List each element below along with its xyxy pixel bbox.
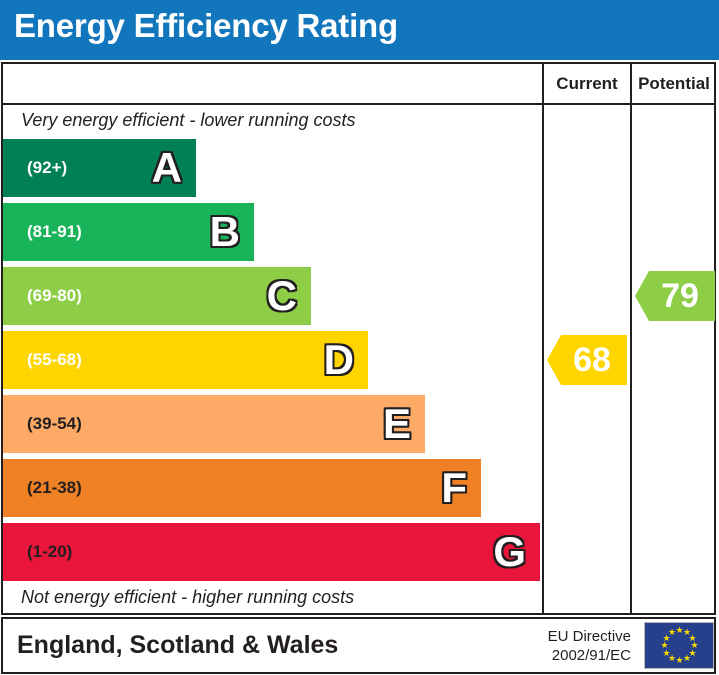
page-title: Energy Efficiency Rating	[14, 7, 398, 45]
eu-flag-star-icon: ★	[676, 657, 683, 664]
band-letter-e: E	[383, 403, 411, 445]
band-bar-d: (55-68)D	[3, 331, 368, 389]
potential-rating-arrow: 79	[635, 271, 715, 321]
band-letter-f: F	[441, 467, 467, 509]
directive-line-2: 2002/91/EC	[521, 646, 631, 665]
column-divider-potential	[630, 64, 632, 613]
band-letter-g: G	[493, 531, 526, 573]
eu-flag-star-icon: ★	[668, 629, 675, 636]
caption-not-efficient: Not energy efficient - higher running co…	[21, 587, 354, 608]
band-bar-c: (69-80)C	[3, 267, 311, 325]
column-divider-current	[542, 64, 544, 613]
band-range-g: (1-20)	[27, 542, 72, 562]
band-letter-a: A	[152, 147, 182, 189]
band-range-a: (92+)	[27, 158, 67, 178]
band-letter-d: D	[324, 339, 354, 381]
band-bar-b: (81-91)B	[3, 203, 254, 261]
band-letter-c: C	[267, 275, 297, 317]
band-bar-f: (21-38)F	[3, 459, 481, 517]
band-letter-b: B	[210, 211, 240, 253]
column-header-potential: Potential	[632, 73, 716, 95]
band-range-d: (55-68)	[27, 350, 82, 370]
band-range-f: (21-38)	[27, 478, 82, 498]
band-bar-a: (92+)A	[3, 139, 196, 197]
band-bar-e: (39-54)E	[3, 395, 425, 453]
current-rating-value: 68	[563, 343, 611, 377]
eu-flag-star-icon: ★	[663, 650, 670, 657]
chart-header-banner: Energy Efficiency Rating	[0, 0, 719, 60]
band-range-b: (81-91)	[27, 222, 82, 242]
band-range-e: (39-54)	[27, 414, 82, 434]
band-bar-g: (1-20)G	[3, 523, 540, 581]
eu-flag-star-icon: ★	[676, 627, 683, 634]
eu-flag-star-icon: ★	[683, 655, 690, 662]
band-range-c: (69-80)	[27, 286, 82, 306]
footer-region-label: England, Scotland & Wales	[17, 631, 338, 660]
potential-rating-value: 79	[651, 279, 699, 313]
band-bars: (92+)A(81-91)B(69-80)C(55-68)D(39-54)E(2…	[3, 64, 540, 613]
chart-footer: England, Scotland & Wales EU Directive 2…	[1, 617, 716, 674]
energy-efficiency-rating-chart: Energy Efficiency Rating Current Potenti…	[0, 0, 719, 675]
rating-table: Current Potential Very energy efficient …	[1, 62, 716, 615]
current-rating-arrow: 68	[547, 335, 627, 385]
column-header-current: Current	[544, 73, 630, 95]
directive-line-1: EU Directive	[521, 627, 631, 646]
footer-directive: EU Directive 2002/91/EC	[521, 627, 631, 665]
eu-flag-star-icon: ★	[661, 642, 668, 649]
eu-flag-icon: ★★★★★★★★★★★★	[644, 622, 714, 669]
